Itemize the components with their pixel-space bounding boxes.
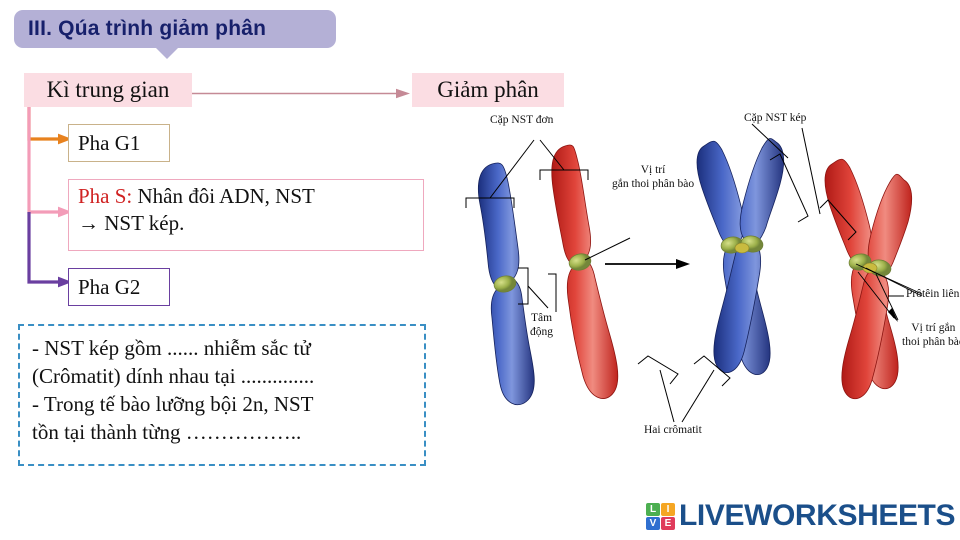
slide-canvas: III. Qúa trình giảm phân Kì trung gian G… [0,0,960,540]
page-title: III. Qúa trình giảm phân [28,17,266,41]
transition-arrow-icon [605,259,690,269]
logo-letter-v: V [646,517,660,530]
label-vi-tri-gan-thoi-phan-bao-right: Vị trí gắn thoi phân bào [902,322,960,350]
interphase-box: Kì trung gian [24,73,192,107]
pha-s-line1: Nhân đôi ADN, NST [132,184,315,208]
pha-s-line2: → NST kép. [78,211,184,235]
pha-g1-label: Pha G1 [78,131,140,156]
title-banner-tail-icon [155,47,179,59]
connector-arrow-to-pha-g2-icon [22,107,74,289]
logo-letter-e: E [661,517,675,530]
meiosis-label: Giảm phân [437,77,539,103]
label-vi-tri-gan-thoi-phan-bao-left: Vị trí gắn thoi phân bào [612,164,694,192]
pha-g2-label: Pha G2 [78,275,140,300]
label-line-2: động [530,326,553,338]
label-line-1: Vị trí gắn [911,322,955,334]
chromosome-diagram: Cặp NST đơn Cặp NST kép Vị trí gắn thoi … [452,112,960,482]
blue-double-chromosome [697,138,784,374]
label-hai-cromatit: Hai crômatit [644,424,702,438]
pha-s-lead-label: Pha S: [78,184,132,208]
label-line-2: thoi phân bào [902,336,960,348]
liveworksheets-badge-icon: L I V E [646,503,675,530]
pha-s-box: Pha S: Nhân đôi ADN, NST → NST kép. [68,179,424,251]
interphase-label: Kì trung gian [47,77,170,103]
blue-single-chromosome [478,163,534,405]
meiosis-box: Giảm phân [412,73,564,107]
logo-letter-i: I [661,503,675,516]
label-line-1: Vị trí [641,164,666,176]
question-line: - NST kép gồm ...... nhiễm sắc tử [32,334,412,362]
pha-g2-box: Pha G2 [68,268,170,306]
label-cap-nst-don: Cặp NST đơn [490,114,553,128]
liveworksheets-wordmark: LIVEWORKSHEETS [679,499,955,533]
red-single-chromosome [552,145,618,399]
chromosome-illustration [452,112,960,482]
red-double-chromosome [825,159,912,399]
pha-g1-box: Pha G1 [68,124,170,162]
label-line-2: gắn thoi phân bào [612,178,694,190]
arrow-interphase-to-meiosis-icon [192,88,410,99]
logo-letter-l: L [646,503,660,516]
label-protein-lien-ket: Prôtêin liên kết [906,288,960,302]
label-cap-nst-kep: Cặp NST kép [744,112,806,126]
question-line: (Crômatit) dính nhau tại .............. [32,362,412,390]
label-line-1: Tâm [531,312,552,324]
question-line: - Trong tế bào lưỡng bội 2n, NST [32,390,412,418]
fill-in-the-blank-question-box[interactable]: - NST kép gồm ...... nhiễm sắc tử (Crôma… [18,324,426,466]
liveworksheets-logo: L I V E LIVEWORKSHEETS [646,498,955,534]
question-line: tồn tại thành từng …………….. [32,418,412,446]
linking-protein-icon [735,243,749,253]
section-title-banner: III. Qúa trình giảm phân [14,10,336,48]
label-tam-dong: Tâm động [530,312,553,340]
